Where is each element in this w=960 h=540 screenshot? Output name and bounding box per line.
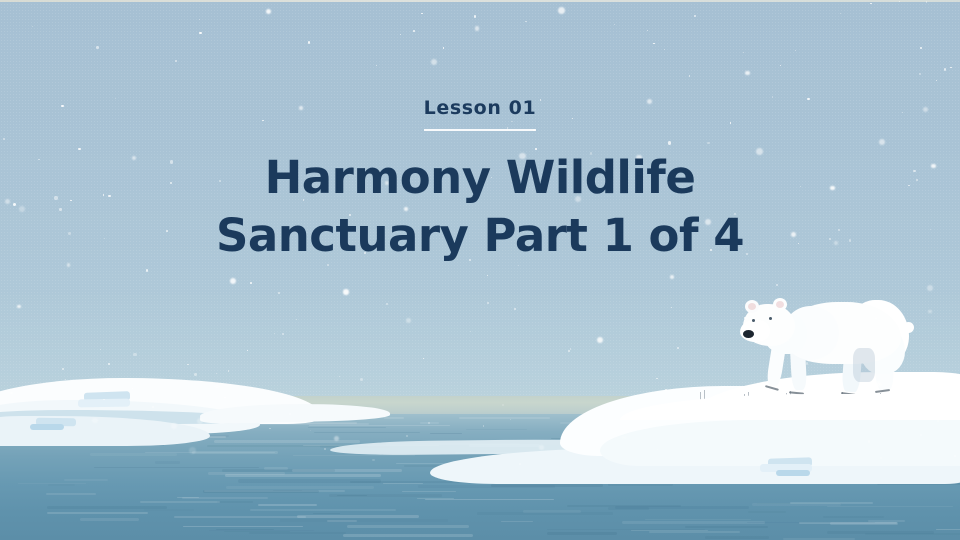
- water-streak: [622, 521, 765, 524]
- water-streak: [936, 529, 960, 530]
- water-streak: [343, 534, 473, 537]
- polar-bear-illustration: [735, 292, 910, 404]
- lesson-label: Lesson 01: [0, 96, 960, 120]
- page-title: Harmony Wildlife Sanctuary Part 1 of 4: [0, 149, 960, 265]
- title-group: Lesson 01 Harmony Wildlife Sanctuary Par…: [0, 96, 960, 265]
- water-streak: [501, 521, 534, 522]
- water-streak: [293, 455, 416, 456]
- slide-canvas: Lesson 01 Harmony Wildlife Sanctuary Par…: [0, 0, 960, 540]
- water-streak: [226, 486, 374, 489]
- bear-ear-right-inner: [776, 301, 784, 308]
- water-streak: [309, 425, 450, 427]
- water-streak: [308, 427, 386, 429]
- water-streak: [459, 417, 550, 419]
- water-streak: [258, 504, 316, 506]
- water-streak: [203, 490, 319, 493]
- water-streak: [347, 525, 469, 528]
- ice-chunk: [776, 470, 810, 476]
- water-streak: [645, 519, 751, 520]
- top-edge-highlight: [0, 0, 960, 2]
- water-streak: [225, 474, 382, 477]
- water-streak: [615, 506, 749, 509]
- lesson-underline: [424, 129, 536, 131]
- water-streak: [705, 536, 770, 539]
- water-streak: [383, 483, 423, 484]
- title-line-1: Harmony Wildlife: [0, 149, 960, 207]
- ice-chunk: [78, 399, 130, 408]
- water-streak: [140, 501, 220, 502]
- water-streak: [823, 516, 885, 518]
- water-streak: [547, 529, 705, 530]
- water-streak: [827, 531, 934, 534]
- water-streak: [183, 526, 304, 527]
- water-streak: [46, 493, 96, 495]
- water-streak: [280, 519, 448, 522]
- water-streak: [144, 509, 195, 511]
- water-streak: [182, 497, 268, 499]
- bear-claw-mark: [765, 385, 779, 390]
- bear-ear-left-inner: [748, 303, 756, 310]
- water-streak: [547, 532, 617, 535]
- water-streak: [314, 432, 420, 433]
- water-streak: [249, 532, 346, 534]
- water-streak: [214, 440, 361, 443]
- bear-claw-mark: [875, 389, 890, 393]
- water-streak: [430, 433, 462, 434]
- water-streak: [649, 531, 740, 533]
- bear-eye-left: [752, 319, 755, 322]
- water-streak: [48, 484, 75, 486]
- water-streak: [523, 510, 582, 513]
- water-streak: [685, 526, 768, 528]
- water-streak: [47, 512, 148, 514]
- bear-nose: [743, 330, 754, 338]
- water-streak: [238, 479, 381, 482]
- water-streak: [327, 520, 358, 523]
- water-streak: [868, 520, 905, 523]
- water-streak: [174, 516, 306, 517]
- water-streak: [329, 494, 443, 497]
- ice-chunk: [30, 424, 64, 430]
- water-streak: [90, 453, 178, 455]
- water-streak: [491, 484, 603, 487]
- water-streak: [297, 515, 419, 518]
- water-streak: [80, 518, 140, 521]
- bear-eye-right: [769, 317, 772, 320]
- water-streak: [94, 467, 259, 468]
- water-streak: [827, 506, 953, 507]
- water-streak: [64, 479, 107, 481]
- water-streak: [155, 461, 181, 464]
- water-streak: [250, 509, 396, 512]
- bear-tail: [903, 322, 914, 333]
- water-streak: [209, 530, 314, 531]
- water-streak: [425, 499, 554, 500]
- water-streak: [466, 429, 526, 431]
- water-streak: [748, 511, 786, 513]
- water-streak: [192, 451, 278, 454]
- water-streak: [217, 501, 253, 503]
- bear-body-shadow: [853, 348, 875, 382]
- water-streak: [402, 491, 455, 493]
- water-streak: [384, 417, 405, 419]
- water-streak: [747, 522, 874, 523]
- water-streak: [313, 513, 340, 514]
- title-line-2: Sanctuary Part 1 of 4: [0, 207, 960, 265]
- water-streak: [790, 502, 874, 504]
